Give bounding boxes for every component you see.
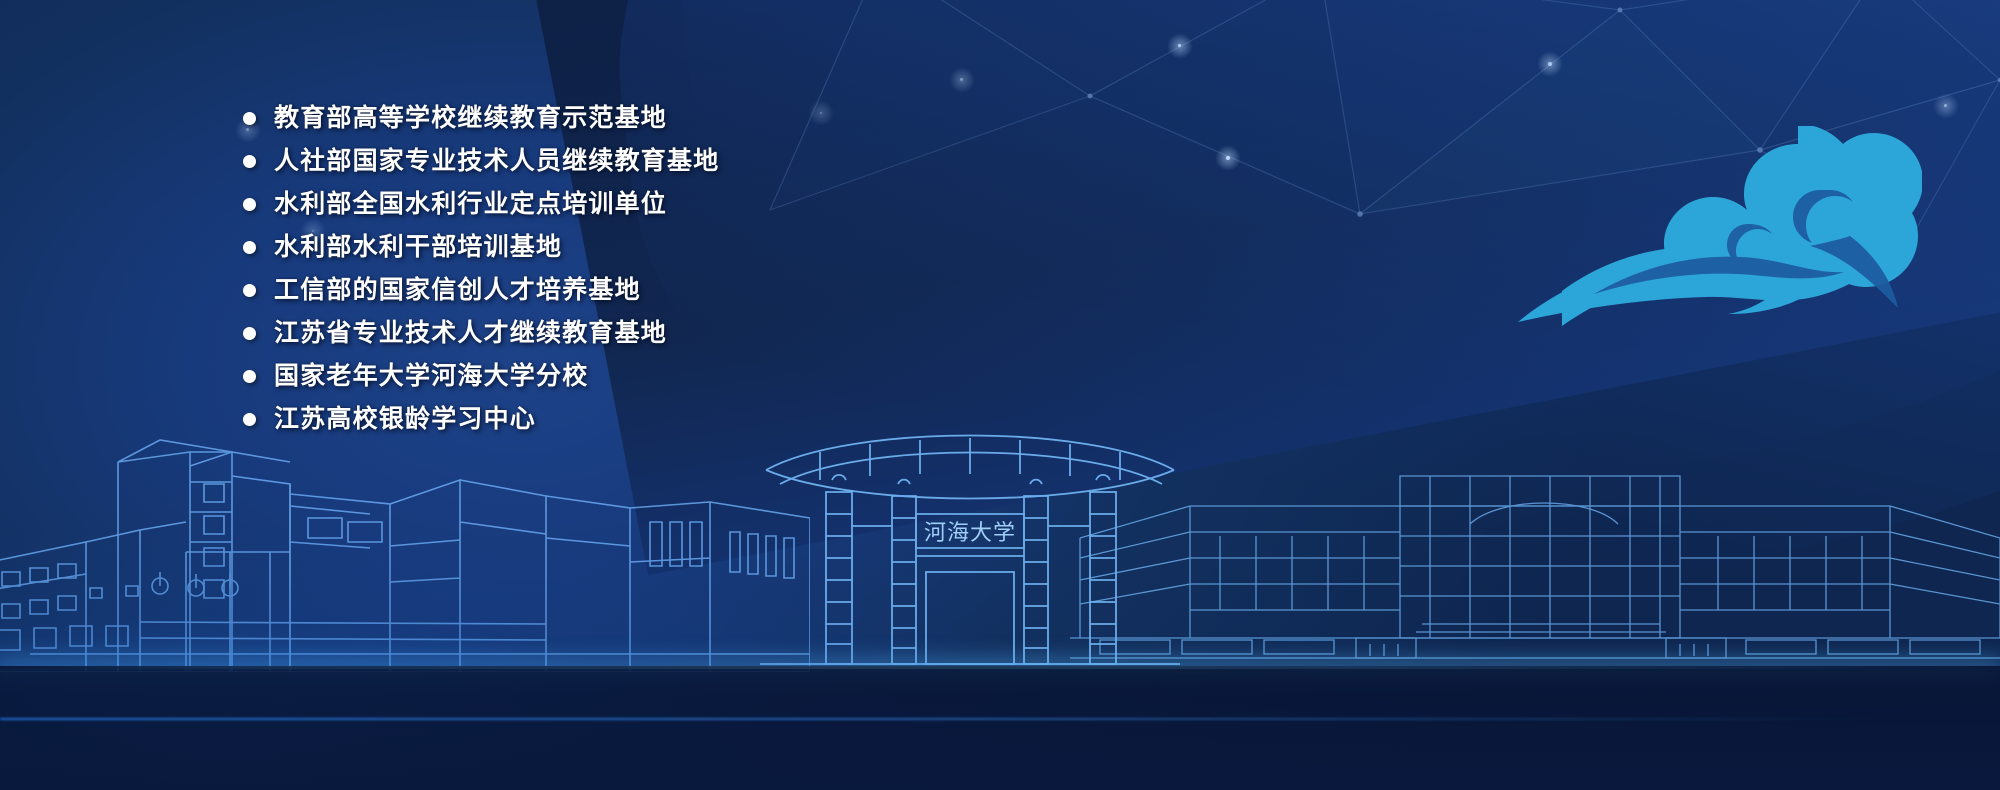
credential-label: 江苏高校银龄学习中心 bbox=[274, 403, 536, 436]
credentials-list: 教育部高等学校继续教育示范基地 人社部国家专业技术人员继续教育基地 水利部全国水… bbox=[243, 102, 719, 436]
glow-dot bbox=[1178, 44, 1181, 47]
credential-label: 国家老年大学河海大学分校 bbox=[274, 360, 588, 393]
list-item: 水利部水利干部培训基地 bbox=[243, 231, 719, 264]
bullet-icon bbox=[243, 241, 256, 254]
horizon-secondary-line bbox=[0, 718, 2000, 720]
list-item: 江苏高校银龄学习中心 bbox=[243, 403, 719, 436]
credential-label: 水利部全国水利行业定点培训单位 bbox=[274, 188, 667, 221]
glow-dot bbox=[1226, 156, 1230, 160]
list-item: 工信部的国家信创人才培养基地 bbox=[243, 274, 719, 307]
list-item: 国家老年大学河海大学分校 bbox=[243, 360, 719, 393]
glow-dot bbox=[960, 78, 963, 81]
list-item: 江苏省专业技术人才继续教育基地 bbox=[243, 317, 719, 350]
wave-cloud-emblem bbox=[1502, 126, 1922, 326]
credential-label: 教育部高等学校继续教育示范基地 bbox=[274, 102, 667, 135]
bullet-icon bbox=[243, 327, 256, 340]
bullet-icon bbox=[243, 370, 256, 383]
banner-root: 河海大学 教 bbox=[0, 0, 2000, 790]
bullet-icon bbox=[243, 284, 256, 297]
credential-label: 江苏省专业技术人才继续教育基地 bbox=[274, 317, 667, 350]
bullet-icon bbox=[243, 413, 256, 426]
campus-main-building-right bbox=[1070, 462, 2000, 672]
list-item: 水利部全国水利行业定点培训单位 bbox=[243, 188, 719, 221]
credential-label: 工信部的国家信创人才培养基地 bbox=[274, 274, 641, 307]
list-item: 教育部高等学校继续教育示范基地 bbox=[243, 102, 719, 135]
list-item: 人社部国家专业技术人员继续教育基地 bbox=[243, 145, 719, 178]
glow-dot bbox=[1944, 104, 1947, 107]
bullet-icon bbox=[243, 112, 256, 125]
credential-label: 水利部水利干部培训基地 bbox=[274, 231, 562, 264]
bullet-icon bbox=[243, 155, 256, 168]
credential-label: 人社部国家专业技术人员继续教育基地 bbox=[274, 145, 719, 178]
bullet-icon bbox=[243, 198, 256, 211]
glow-dot bbox=[1548, 62, 1552, 66]
floor-dark-band bbox=[0, 666, 2000, 790]
glow-dot bbox=[820, 112, 822, 114]
